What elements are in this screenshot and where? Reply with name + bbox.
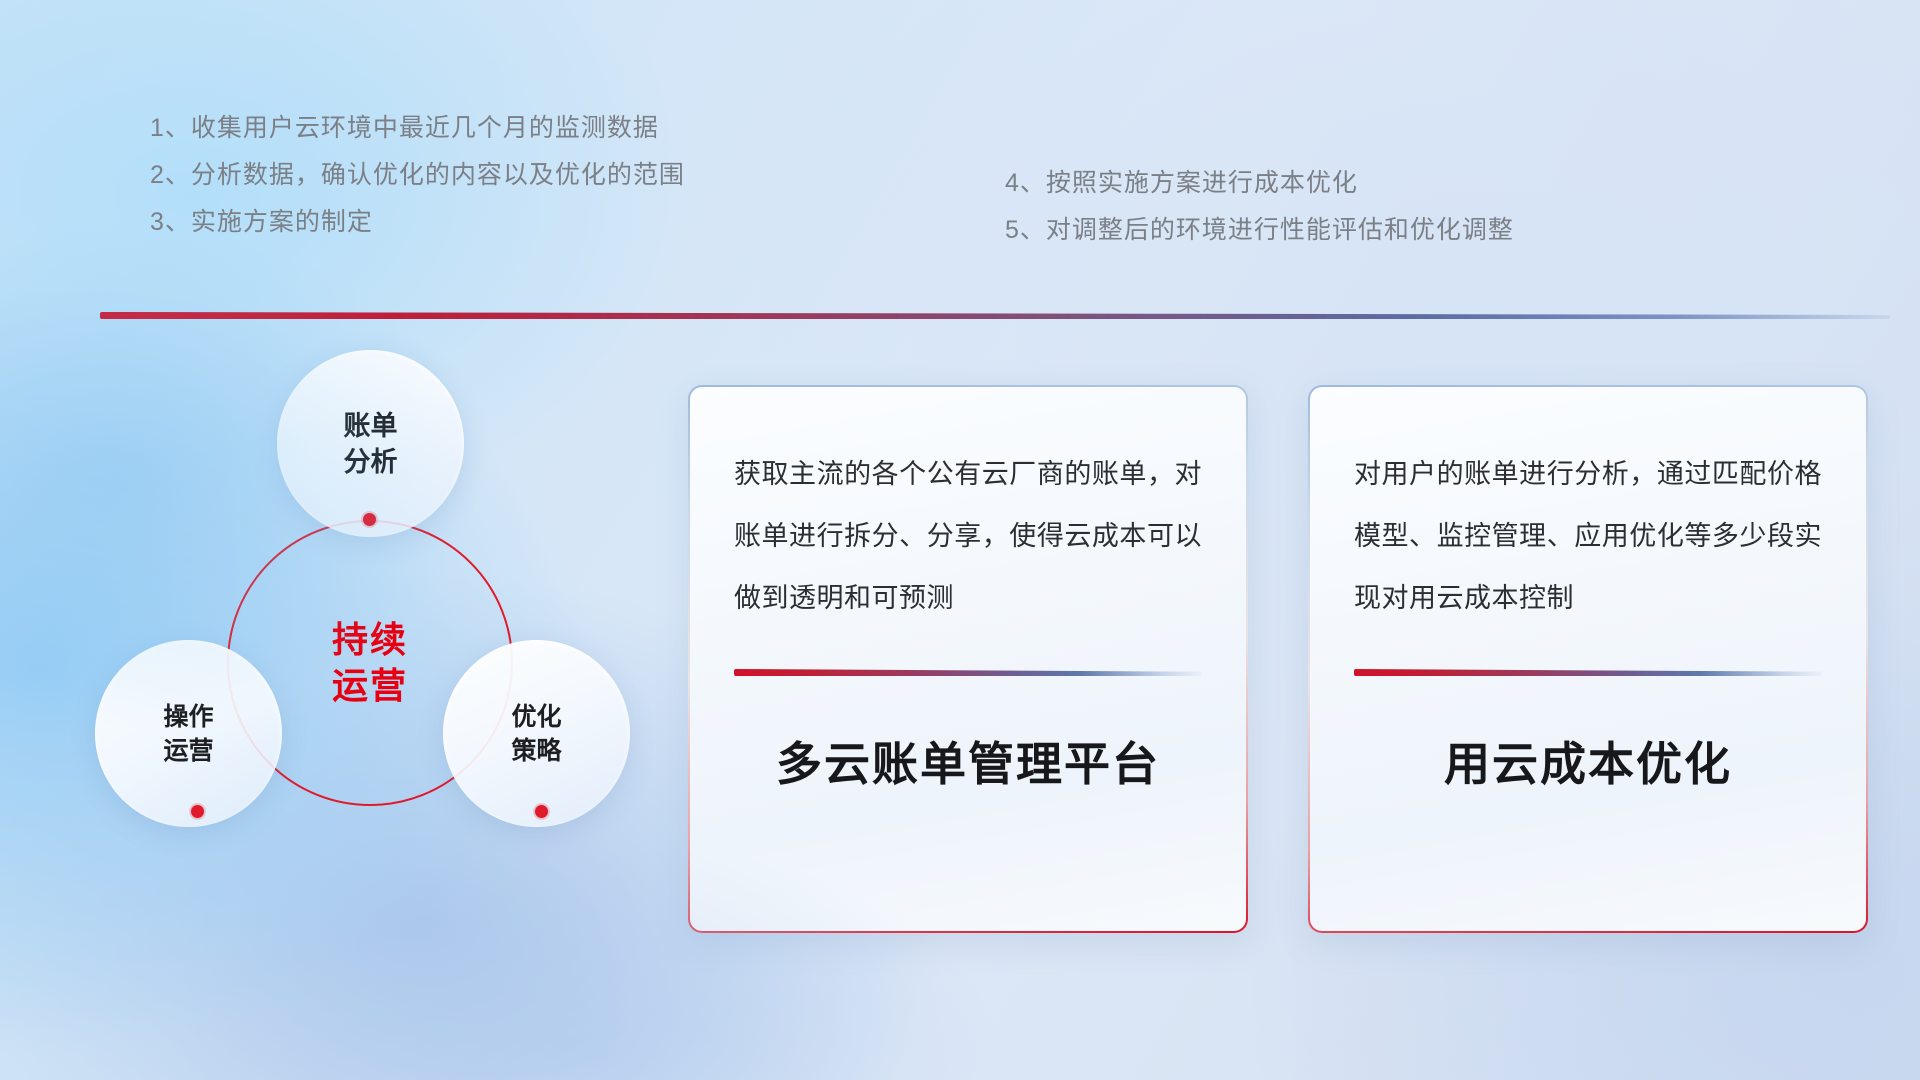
slide-canvas: 1、收集用户云环境中最近几个月的监测数据 2、分析数据，确认优化的内容以及优化的… (0, 0, 1920, 1080)
cycle-node-label-line-1: 优化 (511, 700, 561, 734)
cycle-node-dot-left (191, 805, 204, 818)
cycle-node-dot-right (535, 805, 548, 818)
card-divider (734, 669, 1202, 676)
card-body-text: 获取主流的各个公有云厂商的账单，对账单进行拆分、分享，使得云成本可以做到透明和可… (734, 443, 1202, 629)
cycle-node-dot-top (363, 513, 376, 526)
step-item-4: 4、按照实施方案进行成本优化 (1005, 160, 1514, 207)
steps-list-right: 4、按照实施方案进行成本优化 5、对调整后的环境进行性能评估和优化调整 (1005, 160, 1514, 254)
card-divider (1354, 669, 1822, 676)
cycle-diagram: 持续 运营 账单 分析 操作 运营 优化 策略 (95, 350, 655, 950)
cycle-center-line-1: 持续 (332, 617, 408, 663)
cycle-node-optimization-strategy[interactable]: 优化 策略 (443, 640, 630, 827)
cycle-node-label-line-2: 运营 (163, 734, 213, 768)
section-divider (100, 312, 1890, 319)
step-item-5: 5、对调整后的环境进行性能评估和优化调整 (1005, 207, 1514, 254)
cycle-node-operations[interactable]: 操作 运营 (95, 640, 282, 827)
card-title: 多云账单管理平台 (734, 728, 1202, 794)
cycle-node-label-line-1: 账单 (344, 408, 398, 444)
feature-card-multicloud-billing[interactable]: 获取主流的各个公有云厂商的账单，对账单进行拆分、分享，使得云成本可以做到透明和可… (688, 385, 1248, 933)
step-item-2: 2、分析数据，确认优化的内容以及优化的范围 (150, 152, 685, 199)
cycle-node-billing-analysis[interactable]: 账单 分析 (277, 350, 464, 537)
card-body-text: 对用户的账单进行分析，通过匹配价格模型、监控管理、应用优化等多少段实现对用云成本… (1354, 443, 1822, 629)
step-item-3: 3、实施方案的制定 (150, 199, 685, 246)
cycle-node-label-line-2: 策略 (511, 734, 561, 768)
feature-card-cloud-cost-optimization[interactable]: 对用户的账单进行分析，通过匹配价格模型、监控管理、应用优化等多少段实现对用云成本… (1308, 385, 1868, 933)
cycle-center-line-2: 运营 (332, 663, 408, 709)
cycle-node-label-line-1: 操作 (163, 700, 213, 734)
cycle-node-label-line-2: 分析 (344, 444, 398, 480)
card-title: 用云成本优化 (1354, 728, 1822, 794)
step-item-1: 1、收集用户云环境中最近几个月的监测数据 (150, 105, 685, 152)
steps-list-left: 1、收集用户云环境中最近几个月的监测数据 2、分析数据，确认优化的内容以及优化的… (150, 105, 685, 246)
